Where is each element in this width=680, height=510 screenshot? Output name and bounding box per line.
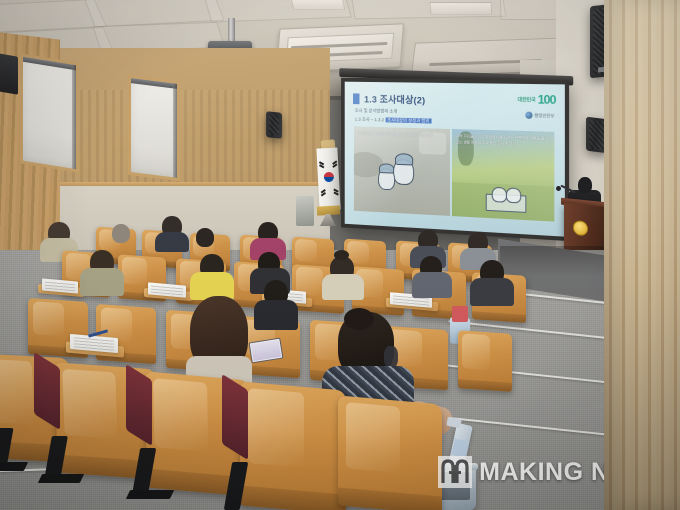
person-torso: [322, 274, 364, 300]
person-torso: [155, 232, 189, 252]
korean-flag: [316, 147, 340, 210]
window-frame-edge: [72, 65, 76, 170]
speaker-grill: [269, 114, 279, 135]
seat-foot: [0, 462, 28, 471]
slide-photo-row: 조사기관과 조사대상의 관계에서 현장 조사 지침 소개 지역 주민들이 거주 …: [354, 126, 554, 221]
seat-foot: [38, 474, 84, 483]
slide-photo-right: 지역 주민들이 거주 환경에 대해 느끼는 만족도에 영향을 줄 수 있는 생활…: [452, 129, 554, 222]
auditorium-seat[interactable]: [458, 330, 512, 392]
trigram: [334, 192, 339, 196]
cartoon-figure: [506, 187, 521, 203]
government-logo: 행정안전부: [525, 112, 554, 120]
logo-korean-text: 대한민국: [517, 96, 535, 103]
window-with-blind: [20, 53, 79, 172]
slide-subtitle-highlight: 조사대상의 설정과 범위: [385, 117, 431, 123]
cartoon-figure: [492, 187, 507, 203]
lecture-hall-photo: 1.3 조사대상(2) 대한민국 100 조사 및 분석방법의 소개 1.3 조…: [0, 0, 680, 510]
side-cabinet: [296, 196, 314, 226]
gov-logo-text: 행정안전부: [534, 112, 554, 119]
person-torso: [254, 300, 298, 330]
making-news-logo: [438, 456, 472, 488]
slide-title: 1.3 조사대상(2): [364, 92, 425, 107]
slide-photo-left: 조사기관과 조사대상의 관계에서 현장 조사 지침 소개: [354, 126, 450, 216]
microphone-capsule: [556, 186, 561, 191]
auditorium-seat[interactable]: [338, 395, 442, 510]
hair-bun: [344, 308, 374, 330]
window-frame-edge: [173, 83, 177, 177]
institution-emblem: [573, 220, 588, 237]
wall-monitor: [0, 53, 18, 95]
speaker-grill: [589, 120, 605, 150]
slide-subtitle-1: 조사 및 분석방법의 소개: [355, 108, 397, 115]
gov-logo-icon: [525, 112, 532, 119]
person-head-gray-hair: [112, 224, 130, 243]
auditorium-seat[interactable]: [240, 381, 346, 510]
folder-red: [452, 306, 468, 322]
seat-foot: [126, 490, 174, 499]
centennial-logo: 대한민국 100: [517, 93, 555, 106]
window-with-blind: [128, 75, 180, 181]
person-torso: [470, 278, 514, 306]
person-torso: [412, 272, 452, 298]
taeguk-symbol: [324, 172, 335, 183]
slide-bullet-icon: [353, 93, 359, 104]
cartoon-hat: [395, 153, 413, 165]
bottle-label: [451, 439, 468, 458]
presenter-head: [578, 177, 592, 193]
logo-number: 100: [538, 93, 556, 106]
projection-screen: 1.3 조사대상(2) 대한민국 100 조사 및 분석방법의 소개 1.3 조…: [341, 78, 569, 241]
slide-title-row: 1.3 조사대상(2): [353, 91, 425, 106]
recessed-light: [291, 0, 346, 10]
wall-speaker-small: [266, 111, 282, 139]
recessed-light: [430, 2, 493, 15]
person-head: [176, 300, 182, 306]
column-shading: [604, 0, 680, 510]
trigram: [319, 164, 324, 168]
person-head: [196, 228, 214, 247]
person-torso: [80, 268, 124, 296]
slide-subtitle-2: 1.3 조사 – 1.3.2 조사대상의 설정과 범위: [355, 117, 431, 125]
photo-caption-left: 조사기관과 조사대상의 관계에서 현장 조사 지침 소개: [358, 131, 446, 139]
blind-rail: [131, 78, 177, 89]
face-mask: [384, 346, 398, 368]
aisle-shadow: [500, 246, 620, 276]
slide-surface: 1.3 조사대상(2) 대한민국 100 조사 및 분석방법의 소개 1.3 조…: [345, 82, 565, 237]
cartoon-hair: [379, 163, 394, 173]
hair-clip: [334, 250, 349, 260]
